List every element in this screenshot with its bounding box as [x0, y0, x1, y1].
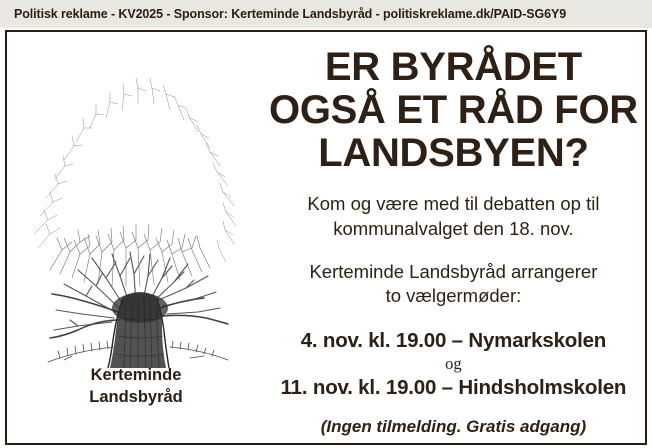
organizer-paragraph-line-2: to vælgermøder: — [269, 284, 638, 309]
event-second: 11. nov. kl. 19.00 – Hindsholmskolen — [269, 375, 638, 400]
intro-paragraph-line-1: Kom og være med til debatten op til — [269, 192, 638, 217]
bare-pollarded-tree-icon — [20, 38, 252, 368]
intro-paragraph-line-2: kommunalvalget den 18. nov. — [269, 217, 638, 242]
organization-caption: Kerteminde Landsbyråd — [89, 364, 183, 408]
headline: ER BYRÅDET OGSÅ ET RÅD FOR LANDSBYEN? — [269, 46, 638, 174]
organizer-paragraph-line-1: Kerteminde Landsbyråd arrangerer — [269, 260, 638, 285]
event-first: 4. nov. kl. 19.00 – Nymarkskolen — [269, 328, 638, 353]
headline-line-3: LANDSBYEN? — [269, 132, 638, 175]
headline-line-1: ER BYRÅDET — [269, 46, 638, 89]
political-ad-poster: Politisk reklame - KV2025 - Sponsor: Ker… — [0, 0, 652, 448]
message-column: ER BYRÅDET OGSÅ ET RÅD FOR LANDSBYEN? Ko… — [265, 32, 646, 443]
illustration-column: Kerteminde Landsbyråd — [7, 32, 265, 443]
event-conjunction: og — [269, 353, 638, 374]
poster-frame: Kerteminde Landsbyråd ER BYRÅDET OGSÅ ET… — [5, 30, 647, 445]
event-list: 4. nov. kl. 19.00 – Nymarkskolen og 11. … — [269, 328, 638, 400]
admission-note: (Ingen tilmelding. Gratis adgang) — [269, 417, 638, 437]
headline-line-2: OGSÅ ET RÅD FOR — [269, 89, 638, 132]
political-disclosure-band: Politisk reklame - KV2025 - Sponsor: Ker… — [0, 0, 652, 28]
organization-caption-line-2: Landsbyråd — [89, 386, 183, 408]
political-disclosure-text: Politisk reklame - KV2025 - Sponsor: Ker… — [14, 0, 566, 28]
organization-caption-line-1: Kerteminde — [89, 364, 183, 386]
intro-paragraph: Kom og være med til debatten op til komm… — [269, 192, 638, 241]
organizer-paragraph: Kerteminde Landsbyråd arrangerer to vælg… — [269, 260, 638, 309]
poster-content: Kerteminde Landsbyråd ER BYRÅDET OGSÅ ET… — [7, 32, 645, 443]
